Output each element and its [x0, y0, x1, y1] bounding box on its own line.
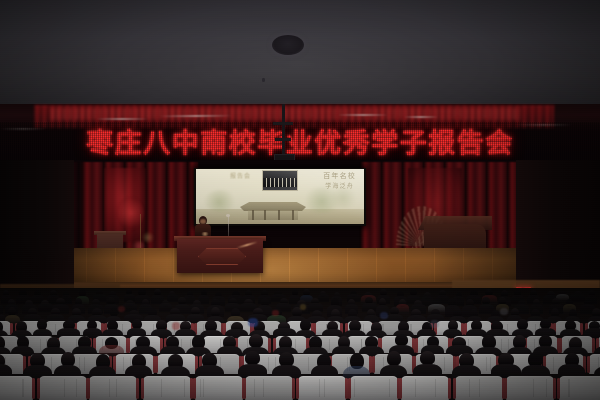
chair-crease: [415, 379, 416, 397]
recessed-ceiling-speaker-icon: [272, 35, 304, 55]
chair-crease: [184, 379, 185, 397]
ceiling-fixture-speck: [262, 78, 265, 82]
chair-crease: [568, 379, 569, 397]
audience-clothing-accent: [272, 310, 279, 316]
audience-chair: [298, 376, 346, 400]
audience-clothing-accent: [380, 312, 388, 319]
chair-crease: [268, 357, 269, 371]
truss-crossbar: [273, 122, 293, 125]
chair-crease: [123, 357, 124, 371]
audience-chair: [350, 376, 398, 400]
auditorium-wall-left: [0, 160, 74, 300]
audience-head: [420, 351, 435, 365]
chair-crease: [40, 339, 41, 350]
audience-head: [387, 351, 401, 366]
audience-chair: [39, 376, 87, 400]
auditorium-wall-right: [516, 160, 600, 300]
chair-crease: [389, 379, 390, 397]
projection-screen: 报告会 百年名校 学海泛舟: [196, 169, 364, 224]
chair-crease: [263, 379, 264, 397]
auditorium-photo: 枣庄八中南校毕业优秀学子报告会 报告会 百年名校 学海泛舟: [0, 0, 600, 400]
chair-crease: [203, 379, 204, 397]
chair-crease: [161, 379, 162, 397]
chair-crease: [116, 379, 117, 397]
audience-chair: [401, 376, 449, 400]
truss-crossbar: [275, 138, 291, 141]
soffit-highlight: [338, 114, 388, 116]
chair-crease: [546, 379, 547, 397]
chair-crease: [469, 379, 470, 397]
chair-crease: [76, 379, 77, 397]
chair-crease: [64, 379, 65, 397]
led-banner-text: 枣庄八中南校毕业优秀学子报告会: [0, 126, 600, 160]
audience-chair: [89, 376, 137, 400]
chair-crease: [501, 339, 502, 350]
audience-shoulders: [318, 294, 329, 302]
audience-seating-area: [0, 288, 600, 400]
soffit-highlight: [404, 116, 438, 118]
chair-crease: [486, 357, 487, 371]
audience-chair: [559, 376, 600, 400]
audience-head: [245, 351, 260, 365]
podium-diamond-inlay: [198, 248, 246, 265]
chair-crease: [444, 357, 445, 371]
chair-crease: [354, 379, 355, 397]
audience-chair: [0, 376, 33, 400]
audience-clothing-accent: [430, 320, 439, 328]
audience-clothing-accent: [300, 304, 306, 310]
chair-crease: [533, 379, 534, 397]
audience-clothing-accent: [500, 308, 508, 315]
chair-crease: [200, 379, 201, 397]
chair-crease: [324, 379, 325, 397]
audience-head: [249, 334, 263, 348]
chair-crease: [319, 379, 320, 397]
chair-crease: [308, 357, 309, 371]
chair-crease: [55, 324, 56, 332]
audience-chair: [245, 376, 293, 400]
screen-gloss: [196, 169, 364, 224]
projector-truss-mount: [272, 104, 294, 166]
chair-crease: [435, 379, 436, 397]
chair-crease: [553, 357, 554, 371]
chair-crease: [84, 357, 85, 371]
chair-crease: [109, 379, 110, 397]
chair-crease: [122, 324, 123, 332]
chair-crease: [329, 339, 330, 350]
chair-crease: [479, 379, 480, 397]
chair-crease: [508, 339, 509, 350]
audience-clothing-accent: [248, 318, 258, 327]
chair-crease: [254, 379, 255, 397]
audience-shoulders: [167, 294, 178, 302]
audience-clothing-accent: [172, 322, 180, 330]
audience-clothing-accent: [118, 306, 125, 312]
soffit-highlight: [96, 118, 148, 120]
chair-crease: [23, 379, 24, 397]
podium-reading-lamp: [200, 232, 210, 236]
ceiling-vignette: [0, 0, 600, 108]
flower-cluster: [142, 232, 154, 243]
